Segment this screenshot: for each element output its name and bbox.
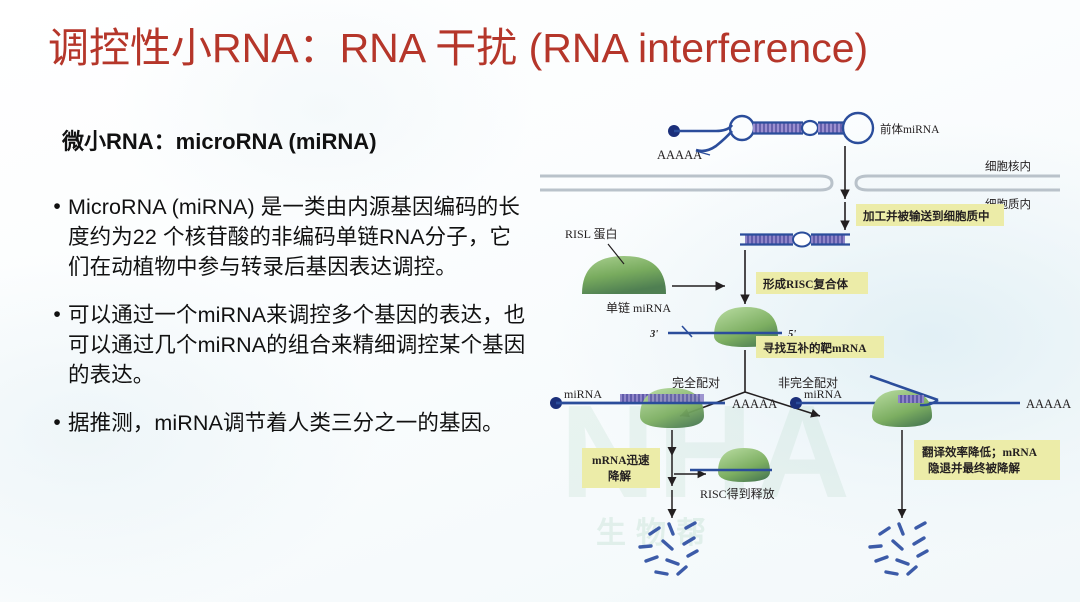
bullet-marker-icon: • [46,408,68,438]
label-risc-released: RISC得到释放 [700,486,775,501]
label-branch-perfect: 完全配对 [672,375,720,390]
bullet-marker-icon: • [46,192,68,282]
label-mirna-left: miRNA [564,387,602,401]
slide-canvas: NHA 生物帮 调控性小RNA：RNA 干扰 (RNA interference… [0,0,1080,602]
nuclear-membrane [540,176,1060,190]
degradation-debris-left [640,523,697,574]
list-item: • MicroRNA (miRNA) 是一类由内源基因编码的长度约为22 个核苷… [46,192,526,282]
label-polya-nucleus: AAAAA [657,148,702,162]
label-precursor-mirna: 前体miRNA [880,122,940,136]
risl-protein-blob [582,256,666,294]
list-item-text: 可以通过一个miRNA来调控多个基因的表达，也可以通过几个miRNA的组合来精细… [68,300,526,390]
label-outcome-right-line1: 翻译效率降低；mRNA [922,445,1038,459]
label-step-export: 加工并被输送到细胞质中 [862,209,990,223]
label-step-form-risc: 形成RISC复合体 [763,277,848,291]
label-three-prime: 3' [649,329,658,340]
label-single-strand-mirna: 单链 miRNA [606,300,671,315]
label-polya-right: AAAAA [1026,397,1071,411]
degradation-debris-right [870,523,927,574]
bullet-marker-icon: • [46,300,68,390]
page-title: 调控性小RNA：RNA 干扰 (RNA interference) [48,26,868,71]
label-polya-left: AAAAA [732,397,777,411]
label-outcome-right-line2: 隐退并最终被降解 [928,461,1020,475]
section-subheading: 微小RNA：microRNA (miRNA) [62,124,377,156]
list-item: • 可以通过一个miRNA来调控多个基因的表达，也可以通过几个miRNA的组合来… [46,300,526,390]
label-outcome-left-line2: 降解 [608,469,631,483]
label-nucleus: 细胞核内 [985,159,1031,173]
label-mirna-right: miRNA [804,387,842,401]
list-item-text: MicroRNA (miRNA) 是一类由内源基因编码的长度约为22 个核苷酸的… [68,192,526,282]
pre-mirna-structure [668,113,873,151]
released-risc [690,448,772,482]
list-item-text: 据推测，miRNA调节着人类三分之一的基因。 [68,408,504,438]
bullet-list: • MicroRNA (miRNA) 是一类由内源基因编码的长度约为22 个核苷… [46,192,526,455]
label-risl-protein: RISL 蛋白 [565,226,618,241]
label-step-find-target: 寻找互补的靶mRNA [763,341,867,355]
mirna-duplex [740,233,850,247]
rnai-pathway-diagram: 前体miRNA AAAAA 细胞核内 细胞质内 加工并被输送到细胞质中 [520,104,1080,602]
list-item: • 据推测，miRNA调节着人类三分之一的基因。 [46,408,526,438]
label-outcome-left-line1: mRNA迅速 [592,453,650,467]
